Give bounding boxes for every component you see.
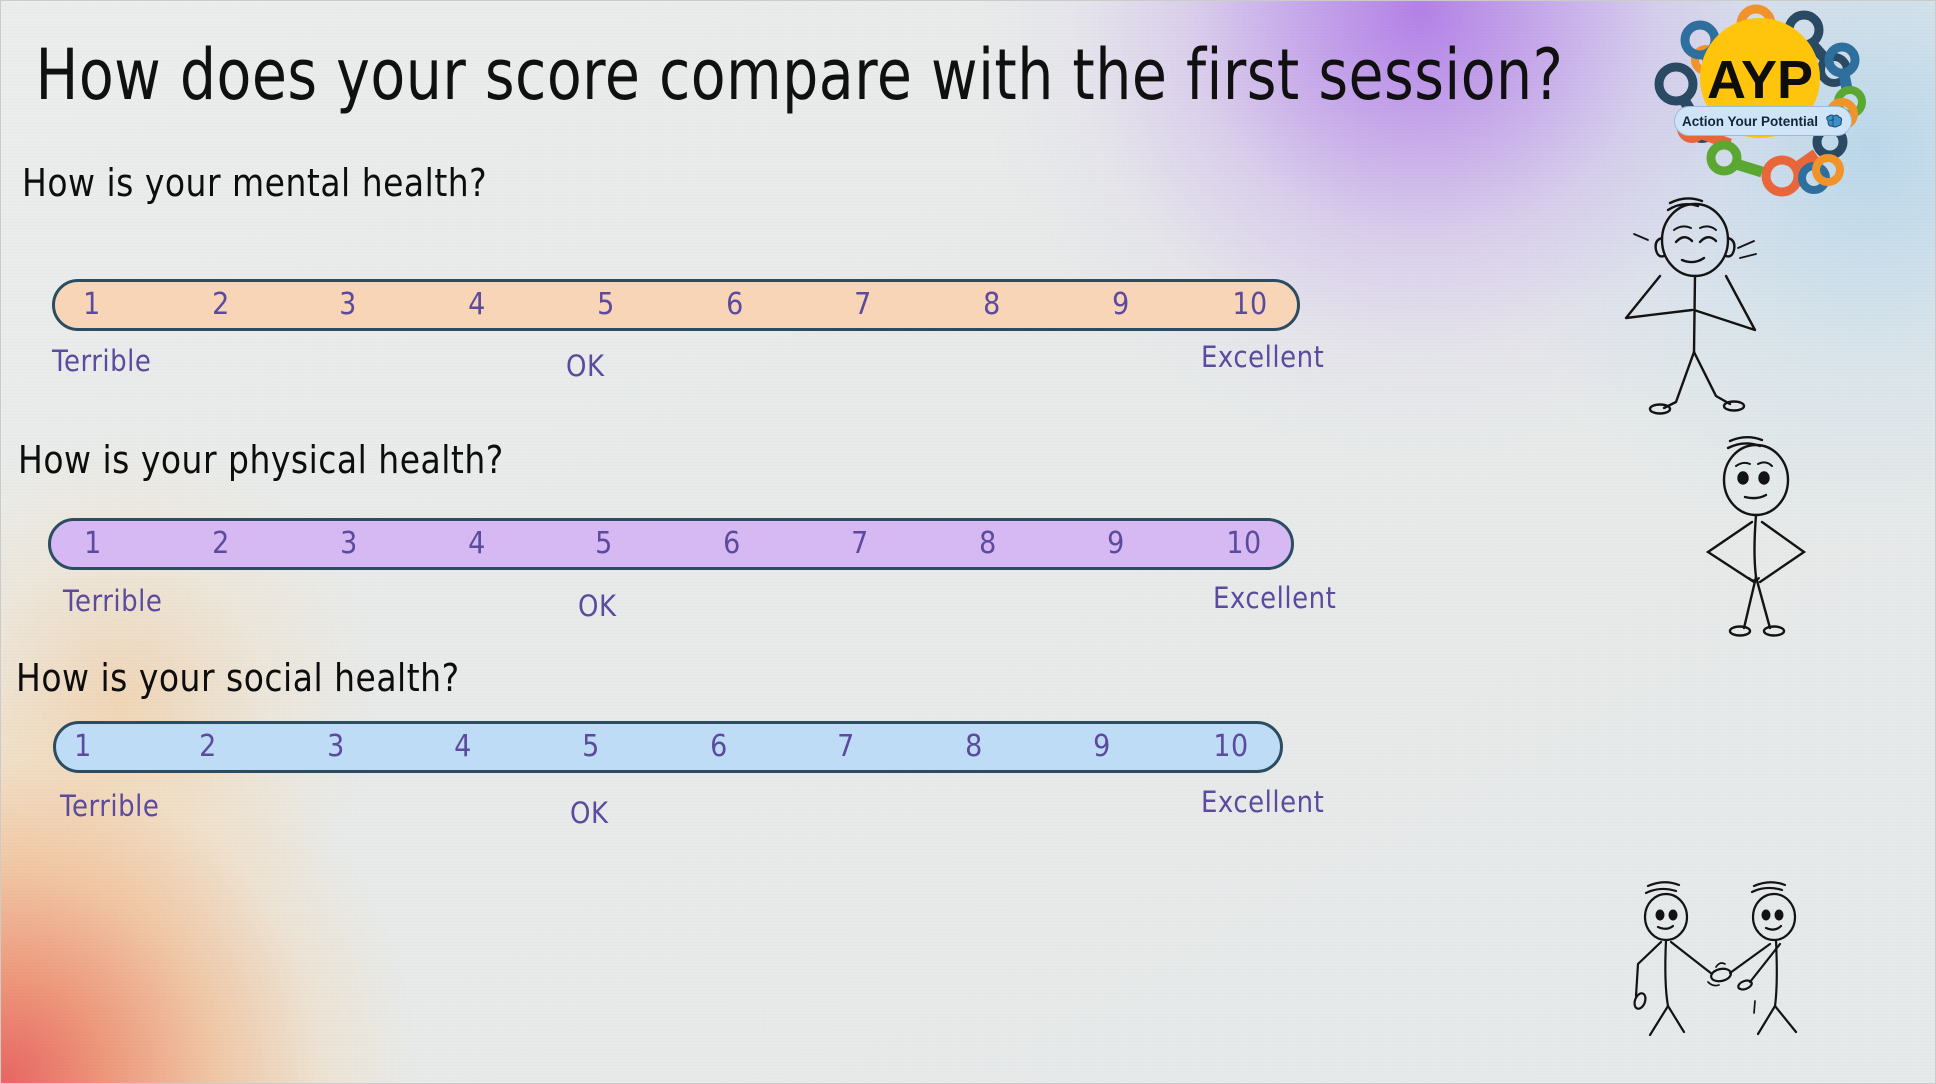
scale-number-9[interactable]: 9 xyxy=(1107,526,1125,561)
scale-number-3[interactable]: 3 xyxy=(340,526,358,561)
scale-number-8[interactable]: 8 xyxy=(983,287,1001,322)
scale-number-9[interactable]: 9 xyxy=(1112,287,1130,322)
two-people-handshake-icon xyxy=(1630,710,1890,1040)
scale-number-8[interactable]: 8 xyxy=(965,729,983,764)
scale-high-label-mental: Excellent xyxy=(1201,341,1324,375)
scale-number-7[interactable]: 7 xyxy=(854,287,872,322)
scale-number-2[interactable]: 2 xyxy=(212,287,230,322)
scale-number-7[interactable]: 7 xyxy=(851,526,869,561)
scale-number-1[interactable]: 1 xyxy=(74,729,92,764)
scale-low-label-social: Terrible xyxy=(60,790,159,824)
scale-number-3[interactable]: 3 xyxy=(339,287,357,322)
scale-high-label-physical: Excellent xyxy=(1213,582,1336,616)
scale-number-8[interactable]: 8 xyxy=(979,526,997,561)
rating-scale-physical[interactable]: 1 2 3 4 5 6 7 8 9 10 xyxy=(48,518,1294,570)
scale-number-5[interactable]: 5 xyxy=(582,729,600,764)
worried-person-icon xyxy=(1630,190,1820,415)
scale-number-6[interactable]: 6 xyxy=(726,287,744,322)
scale-number-1[interactable]: 1 xyxy=(83,287,101,322)
rating-scale-social[interactable]: 1 2 3 4 5 6 7 8 9 10 xyxy=(53,721,1283,773)
scale-number-4[interactable]: 4 xyxy=(468,526,486,561)
scale-number-3[interactable]: 3 xyxy=(327,729,345,764)
scale-number-10[interactable]: 10 xyxy=(1226,526,1261,561)
scale-high-label-social: Excellent xyxy=(1201,786,1324,820)
brain-icon xyxy=(1824,114,1844,129)
scale-number-1[interactable]: 1 xyxy=(84,526,102,561)
scale-number-2[interactable]: 2 xyxy=(199,729,217,764)
scale-number-6[interactable]: 6 xyxy=(710,729,728,764)
question-label-physical: How is your physical health? xyxy=(18,437,504,482)
scale-mid-label-physical: OK xyxy=(578,590,617,624)
scale-number-2[interactable]: 2 xyxy=(212,526,230,561)
page-title: How does your score compare with the fir… xyxy=(36,34,1385,117)
scale-low-label-mental: Terrible xyxy=(52,345,151,379)
ayp-logo: AYP Action Your Potential xyxy=(1652,2,1868,210)
scale-number-9[interactable]: 9 xyxy=(1093,729,1111,764)
logo-ayp-text: AYP xyxy=(1707,50,1813,110)
scale-number-7[interactable]: 7 xyxy=(837,729,855,764)
question-label-mental: How is your mental health? xyxy=(22,160,487,205)
logo-tagline-pill: Action Your Potential xyxy=(1674,106,1852,136)
hands-on-hips-person-icon xyxy=(1700,432,1850,637)
scale-number-10[interactable]: 10 xyxy=(1213,729,1248,764)
scale-number-4[interactable]: 4 xyxy=(454,729,472,764)
scale-low-label-physical: Terrible xyxy=(63,585,162,619)
scale-mid-label-mental: OK xyxy=(566,350,605,384)
scale-number-4[interactable]: 4 xyxy=(468,287,486,322)
logo-tagline-text: Action Your Potential xyxy=(1682,114,1818,129)
scale-number-5[interactable]: 5 xyxy=(597,287,615,322)
question-label-social: How is your social health? xyxy=(16,655,460,700)
scale-number-10[interactable]: 10 xyxy=(1232,287,1267,322)
scale-number-5[interactable]: 5 xyxy=(595,526,613,561)
scale-mid-label-social: OK xyxy=(570,797,609,831)
rating-scale-mental[interactable]: 1 2 3 4 5 6 7 8 9 10 xyxy=(52,279,1300,331)
scale-number-6[interactable]: 6 xyxy=(723,526,741,561)
